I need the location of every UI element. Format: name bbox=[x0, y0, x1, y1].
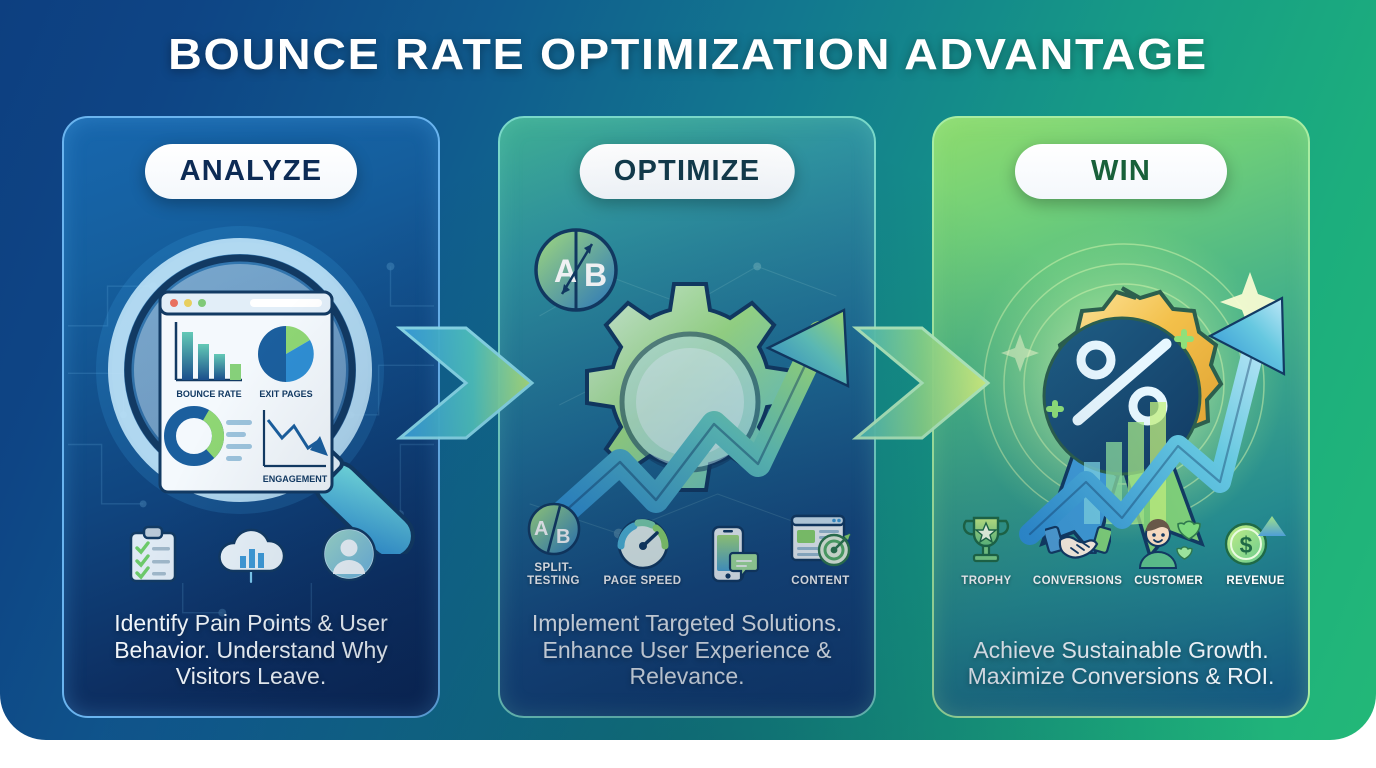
content-target-icon bbox=[790, 512, 852, 570]
gradient-canvas: BOUNCE RATE OPTIMIZATION ADVANTAGE bbox=[0, 0, 1376, 740]
icon-cell-content[interactable]: CONTENT bbox=[779, 512, 862, 588]
icon-cell-revenue[interactable]: $ REVENUE bbox=[1215, 512, 1296, 588]
icon-cell-cloud[interactable] bbox=[205, 525, 297, 588]
icon-cell-customer[interactable]: CUSTOMER bbox=[1128, 512, 1209, 588]
hero-magnifier-dashboard: BOUNCE RATE EXIT PAGES bbox=[64, 214, 438, 554]
handshake-icon bbox=[1045, 512, 1111, 570]
icon-cell-user[interactable] bbox=[303, 525, 395, 588]
panel-analyze[interactable]: ANALYZE bbox=[62, 116, 440, 718]
svg-text:B: B bbox=[584, 257, 607, 293]
speed-gauge-icon bbox=[614, 512, 672, 570]
icon-cell-clipboard[interactable] bbox=[107, 525, 199, 588]
icon-strip-analyze bbox=[64, 525, 438, 588]
svg-text:$: $ bbox=[1239, 532, 1252, 558]
dashboard-label-engagement: ENGAGEMENT bbox=[263, 474, 328, 484]
icon-cell-trophy[interactable]: TROPHY bbox=[946, 512, 1027, 588]
description-analyze: Identify Pain Points & User Behavior. Un… bbox=[80, 610, 422, 690]
icon-label-trophy: TROPHY bbox=[961, 575, 1011, 588]
user-avatar-icon bbox=[320, 525, 378, 583]
badge-optimize[interactable]: OPTIMIZE bbox=[580, 144, 795, 199]
icon-cell-page-speed[interactable]: PAGE SPEED bbox=[601, 512, 684, 588]
description-optimize: Implement Targeted Solutions. Enhance Us… bbox=[516, 610, 858, 690]
svg-text:A: A bbox=[554, 253, 577, 289]
icon-cell-mobile-chat[interactable] bbox=[690, 525, 773, 588]
icon-label-page-speed: PAGE SPEED bbox=[604, 575, 682, 588]
magnifying-glass-dashboard-icon: BOUNCE RATE EXIT PAGES bbox=[64, 214, 440, 554]
panel-win[interactable]: WIN bbox=[932, 116, 1310, 718]
infographic-root: BOUNCE RATE OPTIMIZATION ADVANTAGE bbox=[0, 0, 1376, 768]
trophy-icon bbox=[959, 512, 1013, 570]
icon-strip-optimize: A B SPLIT-TESTING bbox=[500, 499, 874, 588]
hero-award-growth bbox=[934, 214, 1308, 554]
ab-split-test-icon: A B bbox=[526, 499, 582, 557]
badge-analyze[interactable]: ANALYZE bbox=[145, 144, 357, 199]
award-rosette-percent-growth-icon bbox=[934, 214, 1310, 554]
icon-label-content: CONTENT bbox=[791, 575, 849, 588]
description-win: Achieve Sustainable Growth. Maximize Con… bbox=[950, 637, 1292, 690]
icon-label-conversions: CONVERSIONS bbox=[1033, 575, 1122, 588]
customer-hearts-icon bbox=[1136, 512, 1202, 570]
page-title: BOUNCE RATE OPTIMIZATION ADVANTAGE bbox=[0, 30, 1376, 80]
dashboard-label-exit-pages: EXIT PAGES bbox=[259, 389, 312, 399]
panel-optimize[interactable]: OPTIMIZE bbox=[498, 116, 876, 718]
dashboard-label-bounce-rate: BOUNCE RATE bbox=[176, 389, 241, 399]
icon-label-split-testing: SPLIT-TESTING bbox=[512, 562, 595, 588]
icon-cell-conversions[interactable]: CONVERSIONS bbox=[1033, 512, 1122, 588]
revenue-dollar-arrow-icon: $ bbox=[1224, 512, 1288, 570]
svg-text:A: A bbox=[534, 518, 548, 540]
icon-strip-win: TROPHY CONVERSIONS bbox=[934, 512, 1308, 588]
ab-test-circle-icon: A B bbox=[536, 230, 616, 310]
mobile-chat-icon bbox=[703, 525, 761, 583]
clipboard-checklist-icon bbox=[126, 525, 180, 583]
badge-win[interactable]: WIN bbox=[1015, 144, 1227, 199]
svg-text:B: B bbox=[556, 526, 570, 548]
icon-label-customer: CUSTOMER bbox=[1134, 575, 1203, 588]
icon-label-revenue: REVENUE bbox=[1226, 575, 1284, 588]
cloud-analytics-icon bbox=[213, 525, 289, 583]
icon-cell-split-testing[interactable]: A B SPLIT-TESTING bbox=[512, 499, 595, 588]
